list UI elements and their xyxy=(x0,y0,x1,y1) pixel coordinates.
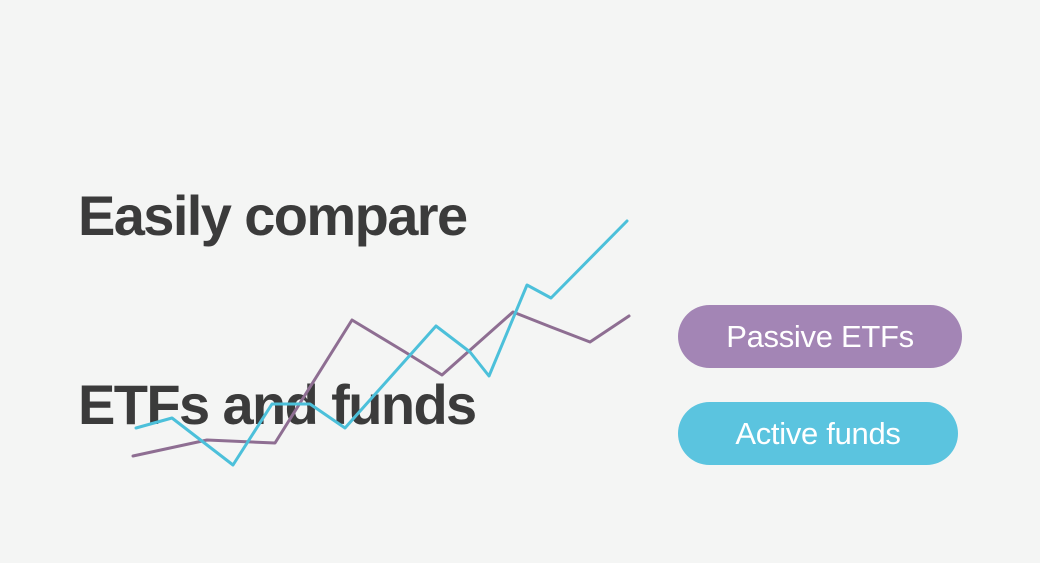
page-title: Easily compare ETFs and funds xyxy=(78,57,476,563)
promo-banner: Easily compare ETFs and funds Passive ET… xyxy=(0,0,1040,520)
legend-item-active-funds[interactable]: Active funds xyxy=(678,402,958,465)
chart-legend: Passive ETFs Active funds xyxy=(678,305,962,465)
legend-item-passive-etfs[interactable]: Passive ETFs xyxy=(678,305,962,368)
headline-line-2: ETFs and funds xyxy=(78,373,476,436)
legend-item-passive-etfs-label: Passive ETFs xyxy=(726,319,914,355)
legend-item-active-funds-label: Active funds xyxy=(735,416,900,452)
headline-line-1: Easily compare xyxy=(78,184,476,247)
